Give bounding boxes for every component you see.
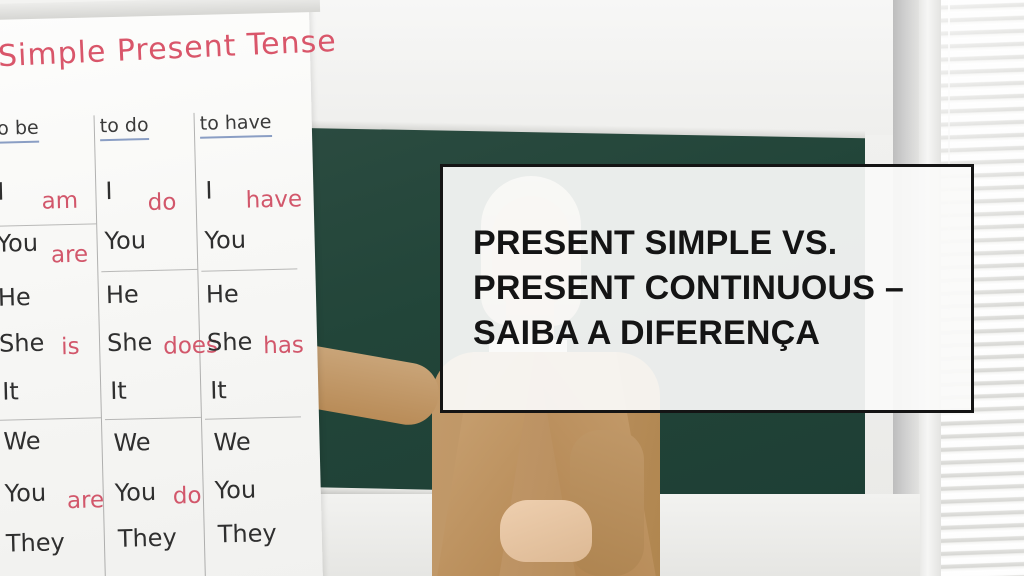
verb-cell: is — [61, 334, 80, 360]
title-text-block: PRESENT SIMPLE VS. PRESENT CONTINUOUS – … — [443, 167, 971, 410]
pronoun-cell: He — [206, 280, 239, 309]
pronoun-cell: She — [207, 328, 253, 357]
pronoun-cell: We — [213, 428, 251, 457]
pronoun-cell: We — [3, 427, 41, 456]
title-line-3: SAIBA A DIFERENÇA — [473, 311, 941, 356]
title-line-2: PRESENT CONTINUOUS – — [473, 266, 941, 311]
pronoun-cell: I — [205, 176, 213, 204]
pronoun-cell: You — [204, 226, 246, 255]
pronoun-cell: You — [4, 479, 46, 508]
whiteboard: Simple Present Tense to be I am You are … — [0, 4, 323, 576]
pronoun-cell: I — [105, 177, 113, 205]
verb-cell: are — [67, 487, 105, 514]
verb-cell: do — [173, 483, 202, 510]
pronoun-cell: She — [107, 328, 153, 357]
pronoun-cell: You — [114, 478, 156, 507]
verb-cell: are — [51, 242, 89, 269]
pronoun-cell: He — [0, 283, 31, 312]
pronoun-cell: You — [104, 226, 146, 255]
pronoun-cell: They — [6, 528, 66, 557]
verb-cell: has — [263, 332, 304, 359]
pronoun-cell: It — [110, 377, 127, 405]
verb-cell: am — [41, 188, 78, 215]
title-line-1: PRESENT SIMPLE VS. — [473, 221, 941, 266]
pronoun-cell: We — [113, 428, 151, 457]
pronoun-cell: You — [0, 229, 38, 258]
pronoun-cell: They — [217, 519, 277, 548]
pronoun-cell: It — [210, 376, 227, 404]
pronoun-cell: I — [0, 178, 5, 206]
whiteboard-heading: Simple Present Tense — [0, 24, 337, 74]
whiteboard-surface: Simple Present Tense to be I am You are … — [0, 4, 323, 576]
teacher-hand-at-waist — [500, 500, 592, 562]
column-header-to-have: to have — [199, 111, 271, 139]
photo-banner: Simple Present Tense to be I am You are … — [0, 0, 1024, 576]
pronoun-cell: She — [0, 329, 45, 358]
pronoun-cell: It — [2, 377, 19, 405]
column-header-to-do: to do — [100, 114, 149, 141]
pronoun-cell: You — [214, 475, 256, 504]
pronoun-cell: They — [118, 523, 178, 552]
verb-cell: have — [245, 186, 302, 213]
pronoun-cell: He — [106, 280, 139, 309]
column-header-to-be: to be — [0, 117, 39, 144]
verb-cell: do — [147, 189, 176, 216]
title-overlay-card: PRESENT SIMPLE VS. PRESENT CONTINUOUS – … — [440, 164, 974, 413]
